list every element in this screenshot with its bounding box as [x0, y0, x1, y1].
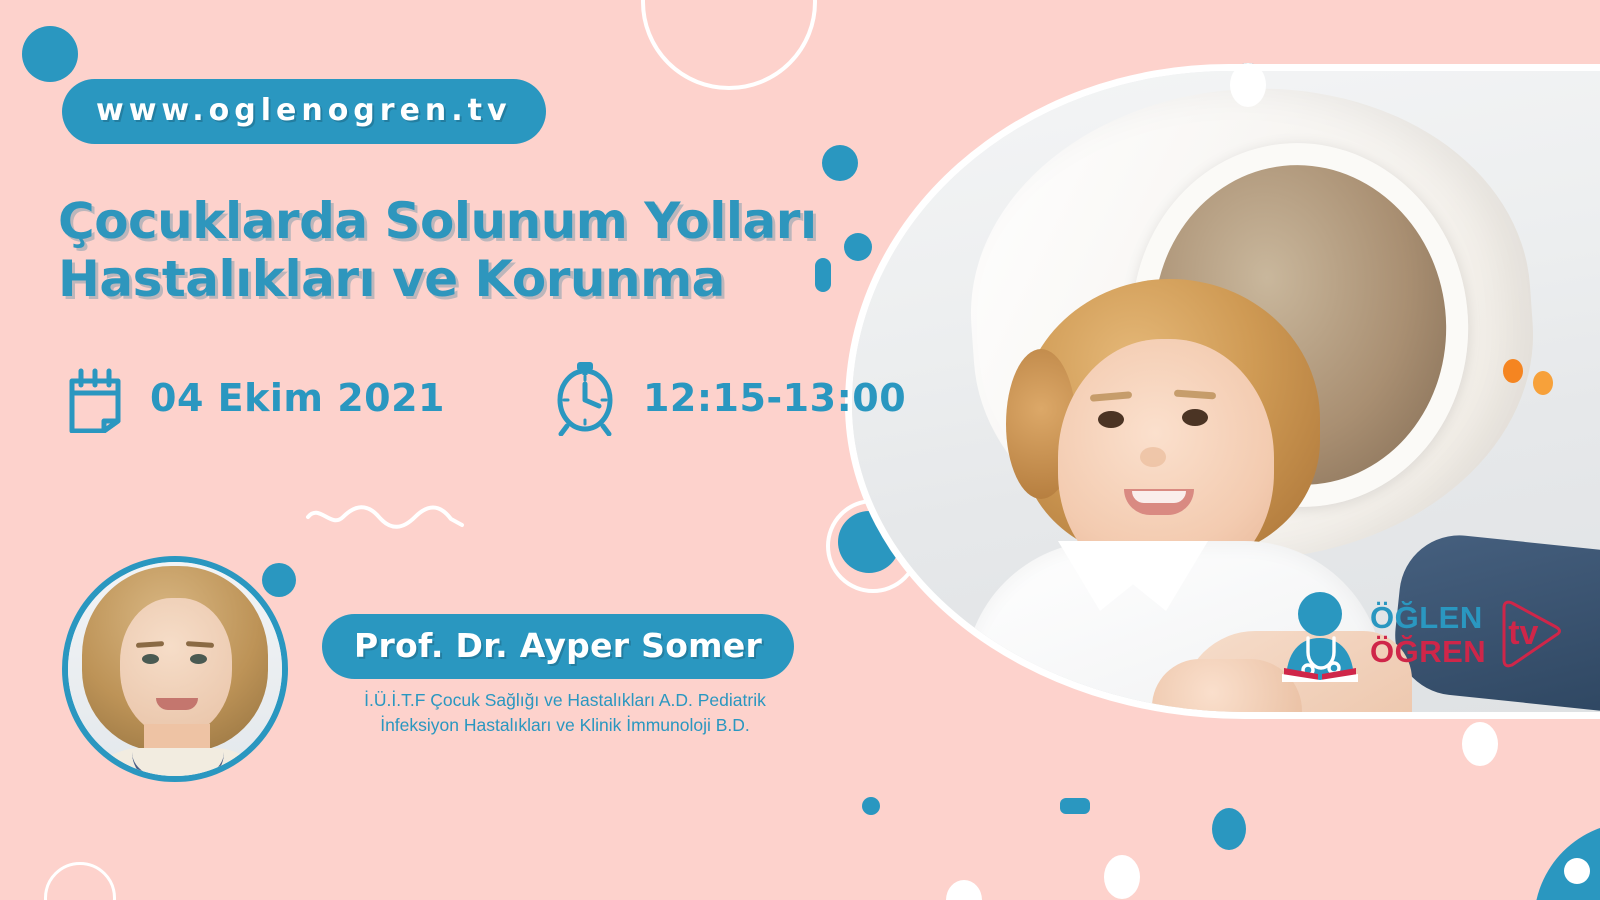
page-title: Çocuklarda Solunum Yolları Hastalıkları …: [58, 192, 888, 308]
logo-word-top: ÖĞLEN: [1370, 602, 1486, 633]
logo-tv-badge: tv: [1494, 594, 1566, 674]
event-meta: 04 Ekim 2021 12:15-13:00: [62, 360, 906, 436]
website-url-label: www.oglenogren.tv: [96, 93, 512, 128]
avatar-eye-left: [142, 654, 159, 664]
website-url-badge[interactable]: www.oglenogren.tv: [62, 79, 546, 144]
avatar-mouth: [156, 698, 198, 710]
webinar-poster: www.oglenogren.tv Çocuklarda Solunum Yol…: [0, 0, 1600, 900]
event-date: 04 Ekim 2021: [150, 376, 445, 420]
speaker-affiliation: İ.Ü.İ.T.F Çocuk Sağlığı ve Hastalıkları …: [330, 688, 800, 739]
alarm-clock-icon: [549, 360, 621, 436]
toy-ball-orange-1: [1503, 359, 1523, 383]
decor-dot-white-bottom-a: [1104, 855, 1140, 899]
child-eye-right: [1182, 409, 1208, 426]
decor-dot-bottom-left-small: [862, 797, 880, 815]
decor-dot-inside-big-circle: [1564, 858, 1590, 884]
decor-dot-bottom-mid: [1212, 808, 1246, 850]
doctor-with-book-icon: [1278, 586, 1362, 682]
logo-wordmark: ÖĞLEN ÖĞREN: [1370, 602, 1486, 667]
speaker-name: Prof. Dr. Ayper Somer: [354, 626, 762, 665]
logo-tv-label: tv: [1508, 614, 1538, 653]
brand-logo[interactable]: ÖĞLEN ÖĞREN tv: [1278, 586, 1566, 682]
title-line-2: Hastalıkları ve Korunma: [58, 250, 888, 308]
decor-wavy-line: [305, 505, 465, 531]
logo-word-bottom: ÖĞREN: [1370, 636, 1486, 667]
avatar-necklace: [132, 752, 224, 782]
avatar-eye-right: [190, 654, 207, 664]
decor-ring-top: [641, 0, 817, 90]
child-eye-left: [1098, 411, 1124, 428]
title-line-1: Çocuklarda Solunum Yolları: [58, 192, 888, 250]
decor-dot-white-right: [1462, 722, 1498, 766]
child-nose: [1140, 447, 1166, 467]
affiliation-line-1: İ.Ü.İ.T.F Çocuk Sağlığı ve Hastalıkları …: [330, 688, 800, 713]
calendar-icon: [62, 363, 128, 433]
decor-pill-bottom: [1060, 798, 1090, 814]
decor-dot-top-left: [22, 26, 78, 82]
decor-ring-bottom-left: [44, 862, 116, 900]
speaker-avatar: [62, 556, 288, 782]
decor-dot-white-on-photo: [1230, 63, 1266, 107]
affiliation-line-2: İnfeksiyon Hastalıkları ve Klinik İmmuno…: [330, 713, 800, 738]
speaker-name-badge: Prof. Dr. Ayper Somer: [322, 614, 794, 679]
avatar-face: [120, 598, 232, 736]
toy-ball-orange-2: [1533, 371, 1553, 395]
event-time: 12:15-13:00: [643, 376, 906, 420]
decor-dot-white-bottom-b: [946, 880, 982, 900]
